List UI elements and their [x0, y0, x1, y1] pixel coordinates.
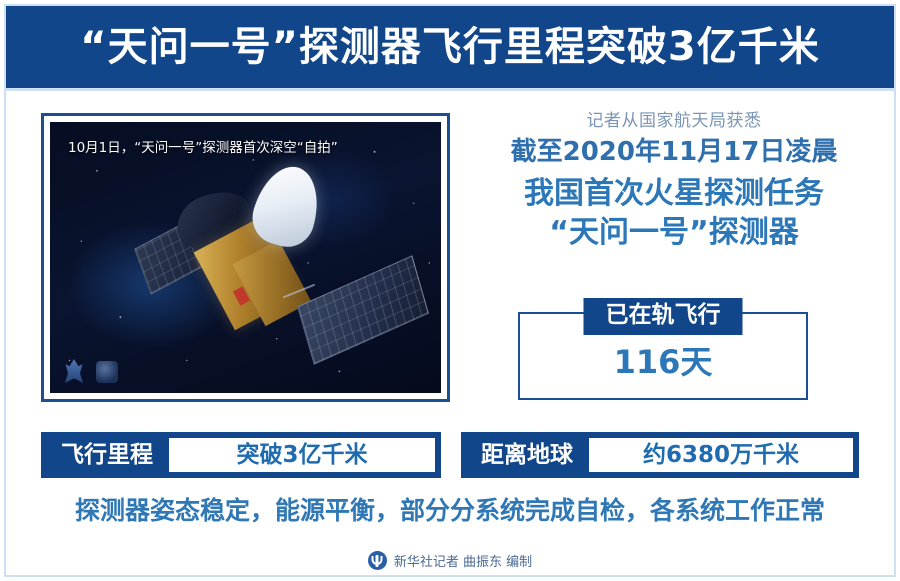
header-divider: [6, 88, 894, 91]
stat-value: 突破3亿千米: [236, 444, 367, 467]
spacecraft-photo: 10月1日，“天问一号”探测器首次深空“自拍”: [50, 122, 441, 393]
photo-panel: 10月1日，“天问一号”探测器首次深空“自拍”: [41, 113, 450, 402]
spacecraft-emblem-icon: [64, 359, 84, 383]
status-caption: 探测器姿态稳定，能源平衡，部分分系统完成自检，各系统工作正常: [0, 498, 900, 523]
mission-emblem-icon: [96, 361, 118, 383]
credit-line: 新华社记者 曲振东 编制: [0, 551, 900, 570]
credit-text: 新华社记者 曲振东 编制: [394, 551, 532, 570]
orbit-duration-value: 116天: [518, 346, 808, 378]
stat-value-box: 约6380万千米: [589, 438, 853, 472]
stat-value: 约6380万千米: [643, 444, 799, 467]
summary-source: 记者从国家航天局获悉: [462, 110, 886, 133]
infographic-poster: “天问一号”探测器飞行里程突破3亿千米 10月1日，“天问一号”探测器首次深空“…: [0, 0, 900, 581]
stat-value-box: 突破3亿千米: [169, 438, 435, 472]
orbit-duration-badge: 已在轨飞行: [584, 298, 743, 335]
stat-bar-flight-distance: 飞行里程 突破3亿千米: [41, 432, 441, 478]
summary-date: 截至2020年11月17日凌晨: [462, 136, 886, 170]
stat-label: 飞行里程: [41, 444, 169, 467]
spacecraft-illustration: [50, 122, 441, 393]
summary-probe: “天问一号”探测器: [462, 214, 886, 252]
photo-watermark: [64, 359, 118, 383]
xinhua-logo-icon: [368, 551, 387, 570]
orbit-duration-callout: 已在轨飞行 116天: [518, 312, 808, 400]
summary-mission: 我国首次火星探测任务: [462, 175, 886, 213]
stat-bar-earth-distance: 距离地球 约6380万千米: [461, 432, 859, 478]
summary-column: 记者从国家航天局获悉 截至2020年11月17日凌晨 我国首次火星探测任务 “天…: [462, 110, 886, 252]
stat-label: 距离地球: [461, 444, 589, 467]
solar-panel-right-icon: [297, 255, 429, 364]
photo-caption: 10月1日，“天问一号”探测器首次深空“自拍”: [68, 136, 338, 156]
page-title: “天问一号”探测器飞行里程突破3亿千米: [80, 27, 819, 67]
header-banner: “天问一号”探测器飞行里程突破3亿千米: [6, 6, 894, 88]
